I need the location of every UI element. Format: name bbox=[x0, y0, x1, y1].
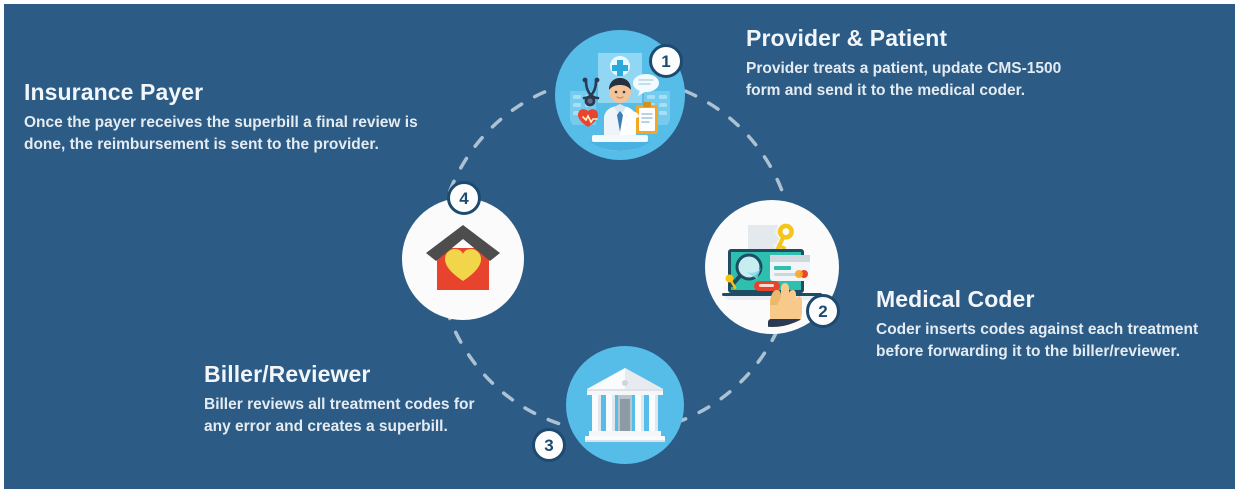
step-badge-1: 1 bbox=[649, 44, 683, 78]
step-body-1: Provider treats a patient, update CMS-15… bbox=[746, 58, 1076, 101]
step-heading-4: Insurance Payer bbox=[24, 80, 444, 105]
step-badge-2: 2 bbox=[806, 294, 840, 328]
step-heading-3: Biller/Reviewer bbox=[204, 362, 504, 387]
step-badge-3: 3 bbox=[532, 428, 566, 462]
step-badge-4: 4 bbox=[447, 181, 481, 215]
bank-building-icon bbox=[579, 359, 671, 451]
step-text-2: Medical Coder Coder inserts codes agains… bbox=[876, 287, 1226, 362]
step-heading-2: Medical Coder bbox=[876, 287, 1226, 312]
step-node-4[interactable] bbox=[402, 198, 524, 320]
step-text-1: Provider & Patient Provider treats a pat… bbox=[746, 26, 1076, 101]
infographic-root: 1 bbox=[0, 0, 1239, 492]
infographic-panel: 1 bbox=[4, 4, 1235, 489]
step-body-4: Once the payer receives the superbill a … bbox=[24, 112, 444, 155]
house-heart-icon bbox=[420, 219, 506, 299]
step-body-2: Coder inserts codes against each treatme… bbox=[876, 319, 1226, 362]
step-body-3: Biller reviews all treatment codes for a… bbox=[204, 394, 504, 437]
step-text-4: Insurance Payer Once the payer receives … bbox=[24, 80, 444, 155]
step-node-3[interactable] bbox=[566, 346, 684, 464]
step-text-3: Biller/Reviewer Biller reviews all treat… bbox=[204, 362, 504, 437]
step-heading-1: Provider & Patient bbox=[746, 26, 1076, 51]
